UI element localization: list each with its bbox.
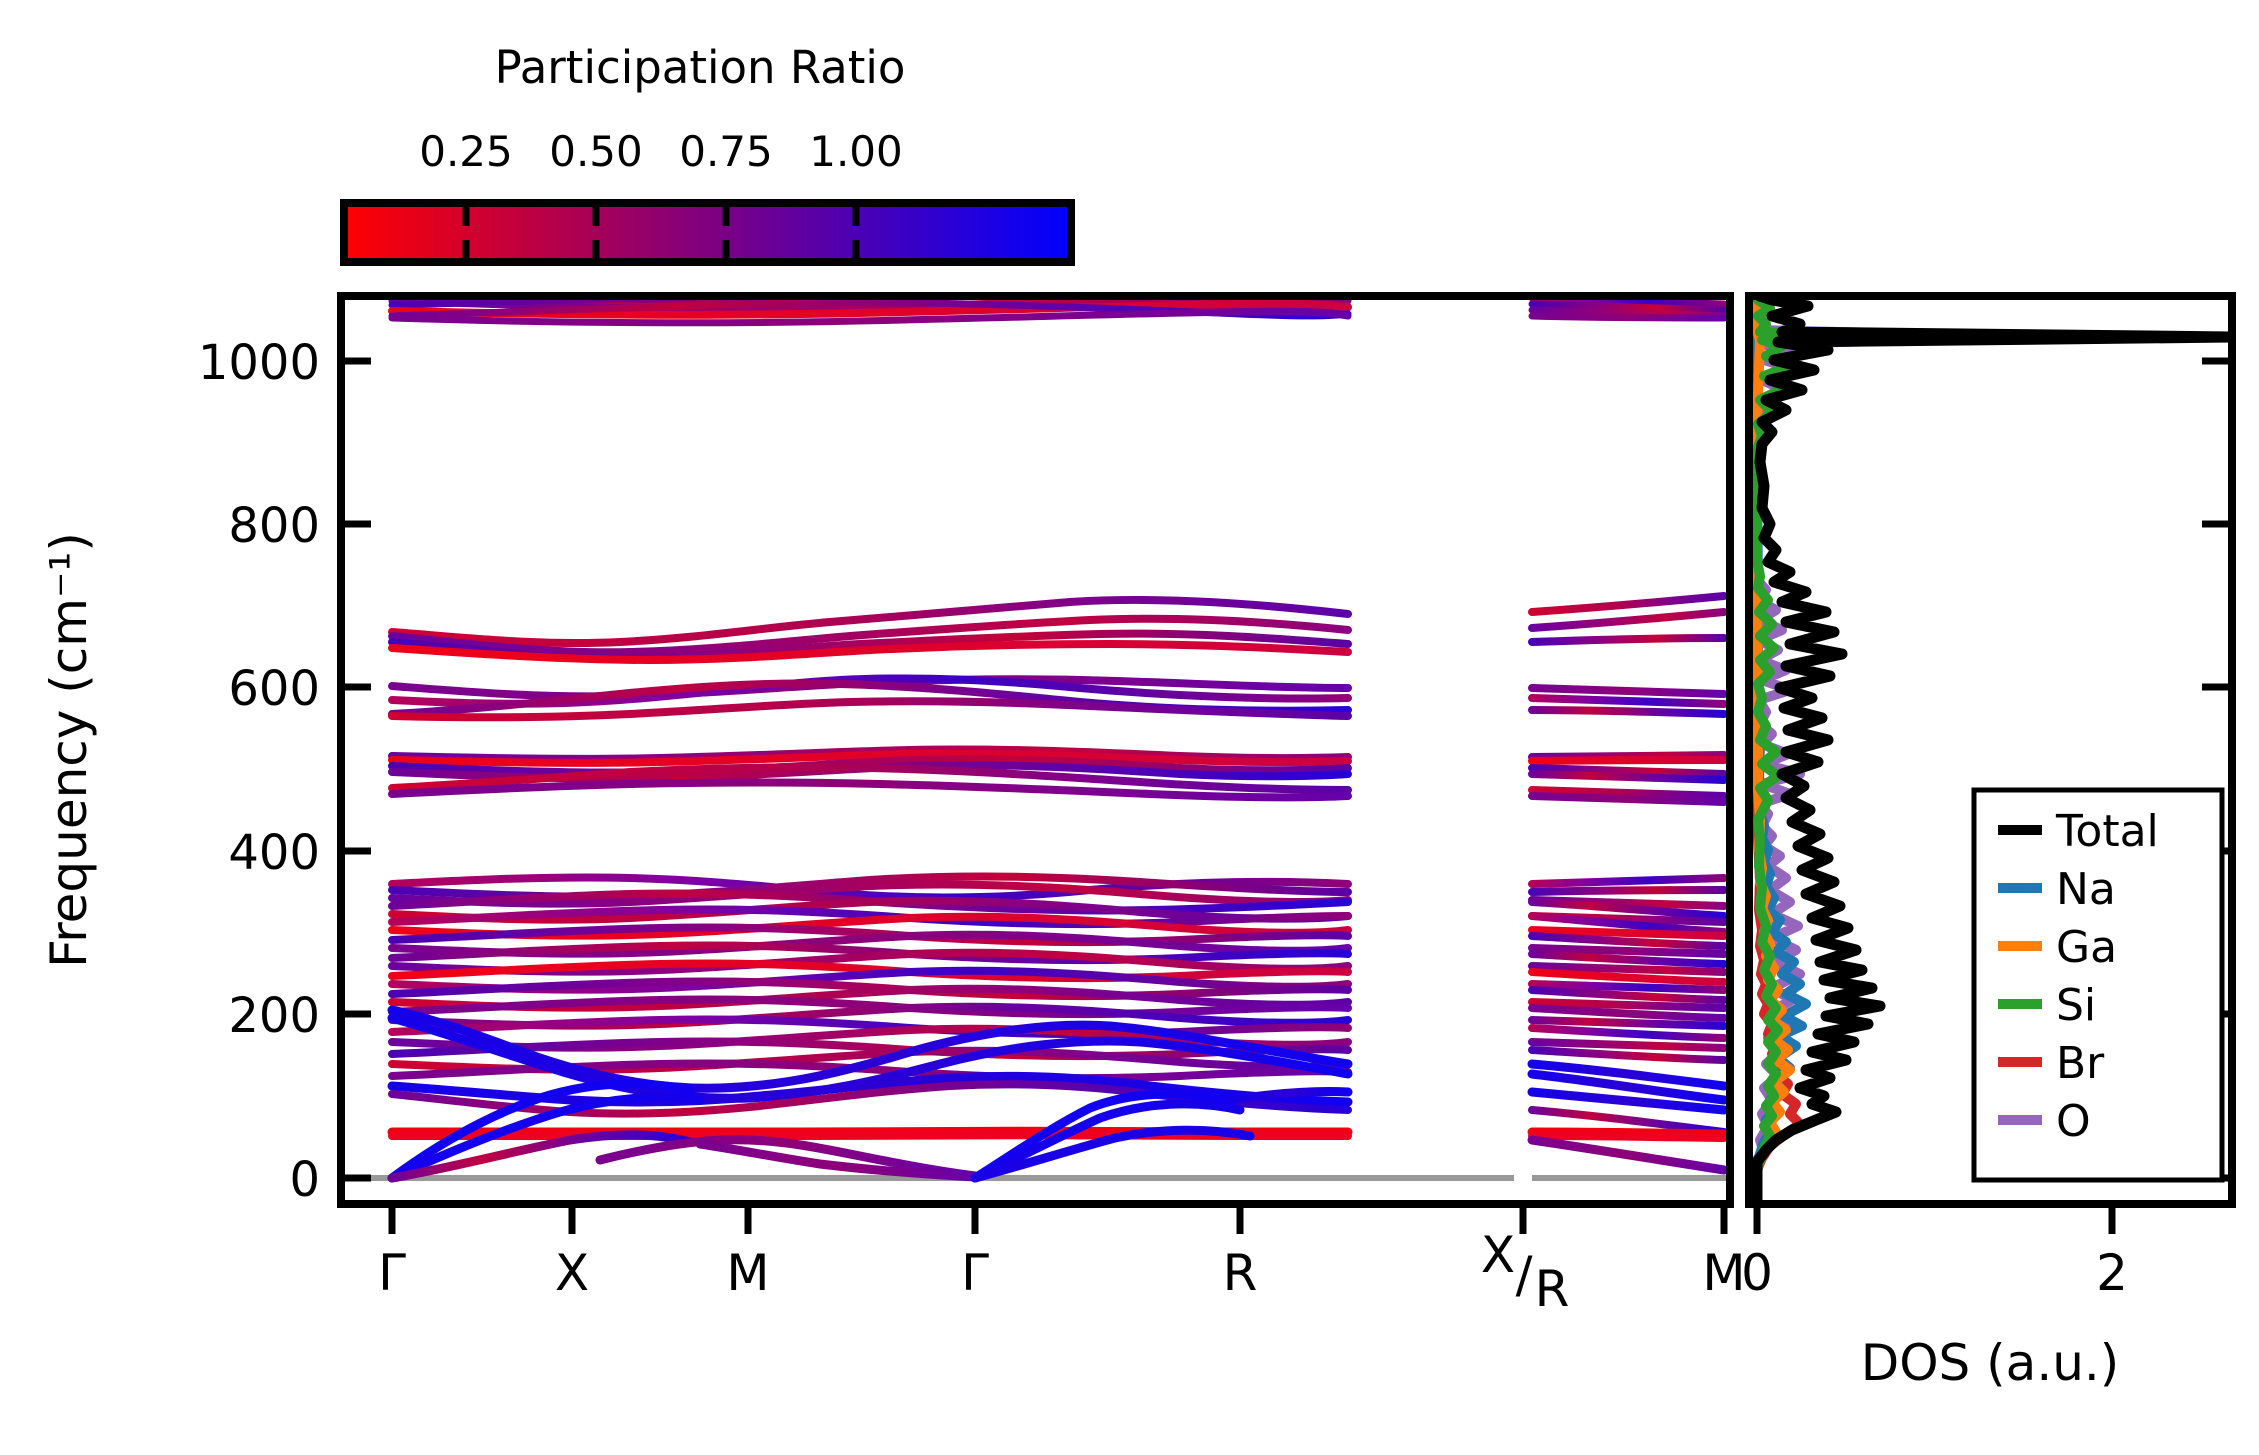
colorbar-title: Participation Ratio xyxy=(495,41,906,94)
dos-legend-label-na: Na xyxy=(2056,864,2116,915)
colorbar-tick-3: 1.00 xyxy=(809,127,903,176)
dos-legend-label-total: Total xyxy=(2055,806,2159,857)
band-ytick-800: 800 xyxy=(228,498,320,554)
dos-legend-label-o: O xyxy=(2056,1096,2091,1147)
band-xtick-X-over-R-numerator: X xyxy=(1481,1226,1515,1284)
dos-legend-label-br: Br xyxy=(2056,1038,2105,1089)
band-xtick-X-over-R-slash: / xyxy=(1516,1246,1533,1304)
band-xtick-gamma1: Γ xyxy=(378,1244,406,1302)
band-xtick-X-over-R-denominator: R xyxy=(1535,1260,1570,1318)
phonon-band-dos-figure: Participation Ratio 0.25 0.50 0.75 1.00 xyxy=(0,0,2259,1455)
dos-panel[interactable]: 0 2 DOS (a.u.) Total Na Ga Si xyxy=(1741,296,2234,1392)
colorbar-tick-1: 0.50 xyxy=(549,127,643,176)
band-ytick-600: 600 xyxy=(228,661,320,717)
band-x-ticks xyxy=(392,1204,1724,1234)
dos-xtick-2: 2 xyxy=(2096,1244,2128,1302)
colorbar-tick-0: 0.25 xyxy=(419,127,513,176)
dos-xtick-0: 0 xyxy=(1741,1244,1773,1302)
band-y-axis-label: Frequency (cm⁻¹) xyxy=(40,532,98,968)
dos-legend-label-si: Si xyxy=(2056,980,2096,1031)
band-ytick-400: 400 xyxy=(228,825,320,881)
dos-legend[interactable]: Total Na Ga Si Br O xyxy=(1974,790,2222,1180)
band-xtick-gamma2: Γ xyxy=(961,1244,989,1302)
dos-legend-label-ga: Ga xyxy=(2056,922,2117,973)
band-ytick-1000: 1000 xyxy=(198,335,320,391)
dos-x-ticks xyxy=(1757,1204,2112,1234)
band-ytick-200: 200 xyxy=(228,988,320,1044)
band-ytick-0: 0 xyxy=(289,1152,320,1208)
colorbar-gradient xyxy=(344,203,1071,262)
dos-x-axis-label: DOS (a.u.) xyxy=(1861,1334,2120,1392)
band-xtick-M1: M xyxy=(726,1244,769,1302)
band-xtick-M2: M xyxy=(1702,1244,1745,1302)
band-xtick-X-over-R: X / R xyxy=(1481,1226,1570,1318)
band-xtick-X: X xyxy=(555,1244,589,1302)
colorbar-tick-2: 0.75 xyxy=(679,127,773,176)
band-xtick-R: R xyxy=(1223,1244,1258,1302)
colorbar[interactable]: Participation Ratio 0.25 0.50 0.75 1.00 xyxy=(344,41,1071,262)
band-structure-panel[interactable]: 1000 800 600 400 200 0 Γ X M Γ R X / R M… xyxy=(40,231,1746,1318)
